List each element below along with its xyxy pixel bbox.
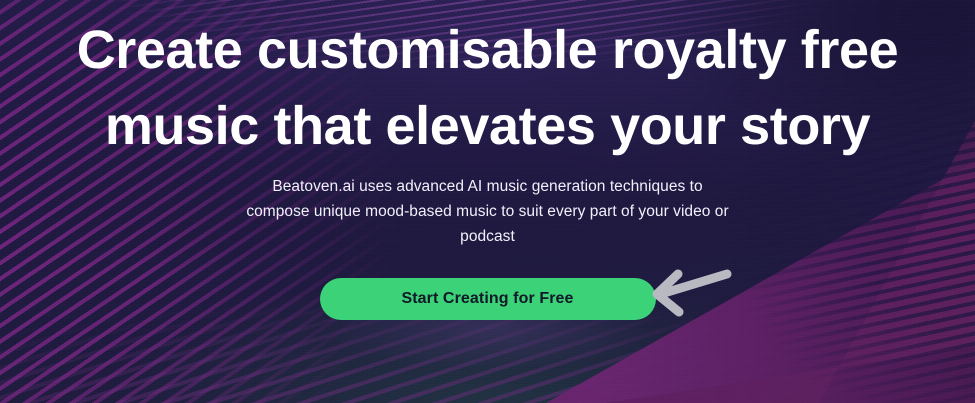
cta-row: Start Creating for Free xyxy=(0,278,975,320)
hero-subtitle-line-3: podcast xyxy=(208,224,768,249)
page-title-line-1: Create customisable royalty free xyxy=(0,12,975,88)
hero-subtitle-line-2: compose unique mood-based music to suit … xyxy=(208,199,768,224)
left-arrow-pointer-icon xyxy=(648,267,734,319)
hero-subtitle: Beatoven.ai uses advanced AI music gener… xyxy=(208,174,768,249)
hero-subtitle-line-1: Beatoven.ai uses advanced AI music gener… xyxy=(208,174,768,199)
hero-section: Create customisable royalty free music t… xyxy=(0,0,975,403)
page-title-line-2: music that elevates your story xyxy=(0,88,975,164)
page-title: Create customisable royalty free music t… xyxy=(0,0,975,164)
hero-content: Create customisable royalty free music t… xyxy=(0,0,975,403)
start-creating-for-free-button[interactable]: Start Creating for Free xyxy=(320,278,656,320)
